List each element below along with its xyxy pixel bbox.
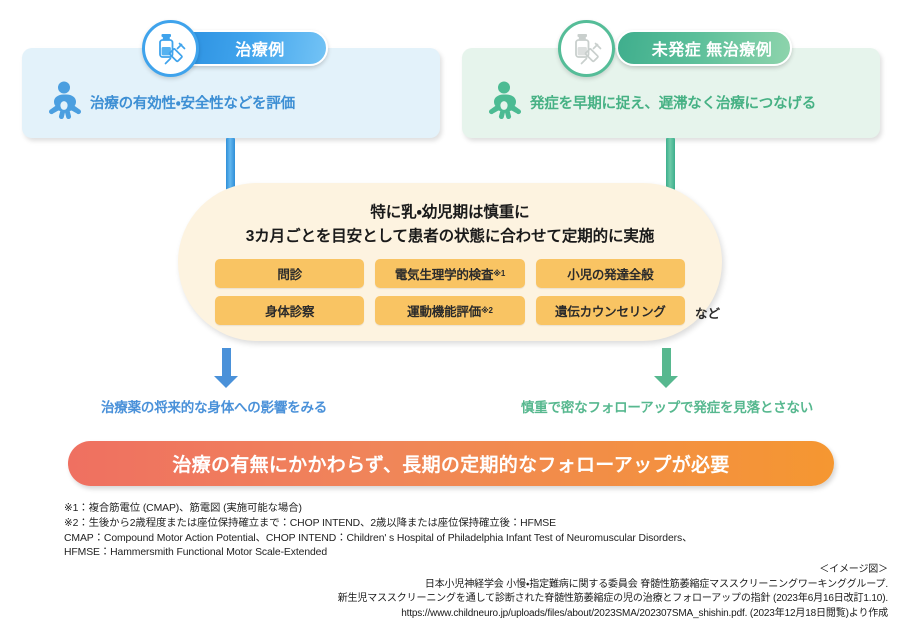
citation-line-2: 日本小児神経学会 小慢・指定難病に関する委員会 脊髄性筋萎縮症マススクリーニング… xyxy=(338,578,888,593)
arrow-shaft xyxy=(662,348,671,376)
baby-icon xyxy=(484,80,524,120)
assessment-item: 遺伝カウンセリング xyxy=(536,296,685,325)
infographic-root: 治療の有効性・安全性などを評価 治療例 xyxy=(0,0,900,630)
monitoring-heading-line2: 3カ月ごとを目安として患者の状態に合わせて定期的に実施 xyxy=(178,225,722,249)
assessment-item: 小児の発達全般 xyxy=(536,259,685,288)
assessment-item: 身体診察 xyxy=(215,296,364,325)
conclusion-banner-text: 治療の有無にかかわらず、長期の定期的なフォローアップが必要 xyxy=(172,450,729,477)
panel-presymptomatic-body: 発症を早期に捉え、遅滞なく治療につなげる xyxy=(462,66,880,138)
assessment-item: 運動機能評価※2 xyxy=(375,296,524,325)
caption-right: 慎重で密なフォローアップで発症を見落とさない xyxy=(521,396,813,416)
badge-presymptomatic-untreated: 未発症 無治療例 xyxy=(616,30,792,66)
footnote-line-4: HFMSE：Hammersmith Functional Motor Scale… xyxy=(64,546,692,561)
assessment-item-note: ※1 xyxy=(493,269,505,278)
badge-treatment-case-label: 治療例 xyxy=(235,36,285,60)
assessment-item-label: 遺伝カウンセリング xyxy=(555,301,666,320)
arrow-down-left xyxy=(214,348,238,388)
footnote-line-1: ※1：複合筋電位 (CMAP)、筋電図 (実施可能な場合) xyxy=(64,502,692,517)
assessment-item-label: 電気生理学的検査 xyxy=(395,264,493,283)
arrow-head-icon xyxy=(214,376,238,388)
monitoring-heading-line1: 特に乳・幼児期は慎重に xyxy=(178,201,722,225)
monitoring-heading: 特に乳・幼児期は慎重に 3カ月ごとを目安として患者の状態に合わせて定期的に実施 xyxy=(178,183,722,248)
arrow-shaft xyxy=(222,348,231,376)
disc-treatment-icon xyxy=(142,20,199,77)
vial-syringe-icon xyxy=(151,29,191,69)
conclusion-banner: 治療の有無にかかわらず、長期の定期的なフォローアップが必要 xyxy=(68,441,834,486)
caption-left: 治療薬の将来的な身体への影響をみる xyxy=(101,396,327,416)
assessment-item-label: 小児の発達全般 xyxy=(567,264,653,283)
assessment-item: 電気生理学的検査※1 xyxy=(375,259,524,288)
arrow-head-icon xyxy=(654,376,678,388)
badge-presymptomatic-label: 未発症 無治療例 xyxy=(652,36,772,60)
etc-label: など xyxy=(695,303,720,322)
assessment-item: 問診 xyxy=(215,259,364,288)
citation-line-1: ＜イメージ図＞ xyxy=(338,563,888,578)
panel-presymptomatic-text: 発症を早期に捉え、遅滞なく治療につなげる xyxy=(530,92,816,113)
citation: ＜イメージ図＞ 日本小児神経学会 小慢・指定難病に関する委員会 脊髄性筋萎縮症マ… xyxy=(338,563,888,621)
footnote-line-3: CMAP：Compound Motor Action Potential、CHO… xyxy=(64,532,692,547)
assessment-item-label: 運動機能評価 xyxy=(407,301,481,320)
assessment-item-label: 身体診察 xyxy=(265,301,314,320)
assessment-item-grid: 問診 電気生理学的検査※1 小児の発達全般 身体診察 運動機能評価※2 遺伝カウ… xyxy=(215,259,685,325)
arrow-down-right xyxy=(654,348,678,388)
disc-no-treatment-icon xyxy=(558,20,615,77)
footnote-line-2: ※2：生後から2歳程度または座位保持確立まで：CHOP INTEND、2歳以降ま… xyxy=(64,517,692,532)
monitoring-schedule-box: 特に乳・幼児期は慎重に 3カ月ごとを目安として患者の状態に合わせて定期的に実施 … xyxy=(178,183,722,341)
panel-treatment-case-text: 治療の有効性・安全性などを評価 xyxy=(90,92,295,113)
baby-icon xyxy=(44,80,84,120)
vial-syringe-disabled-icon xyxy=(567,29,607,69)
panel-treatment-case-body: 治療の有効性・安全性などを評価 xyxy=(22,66,440,138)
assessment-item-label: 問診 xyxy=(277,264,302,283)
citation-line-3: 新生児マススクリーニングを通して診断された脊髄性筋萎縮症の児の治療とフォローアッ… xyxy=(338,592,888,607)
assessment-item-note: ※2 xyxy=(481,306,493,315)
footnotes: ※1：複合筋電位 (CMAP)、筋電図 (実施可能な場合) ※2：生後から2歳程… xyxy=(64,502,692,561)
citation-line-4: https://www.childneuro.jp/uploads/files/… xyxy=(338,607,888,622)
